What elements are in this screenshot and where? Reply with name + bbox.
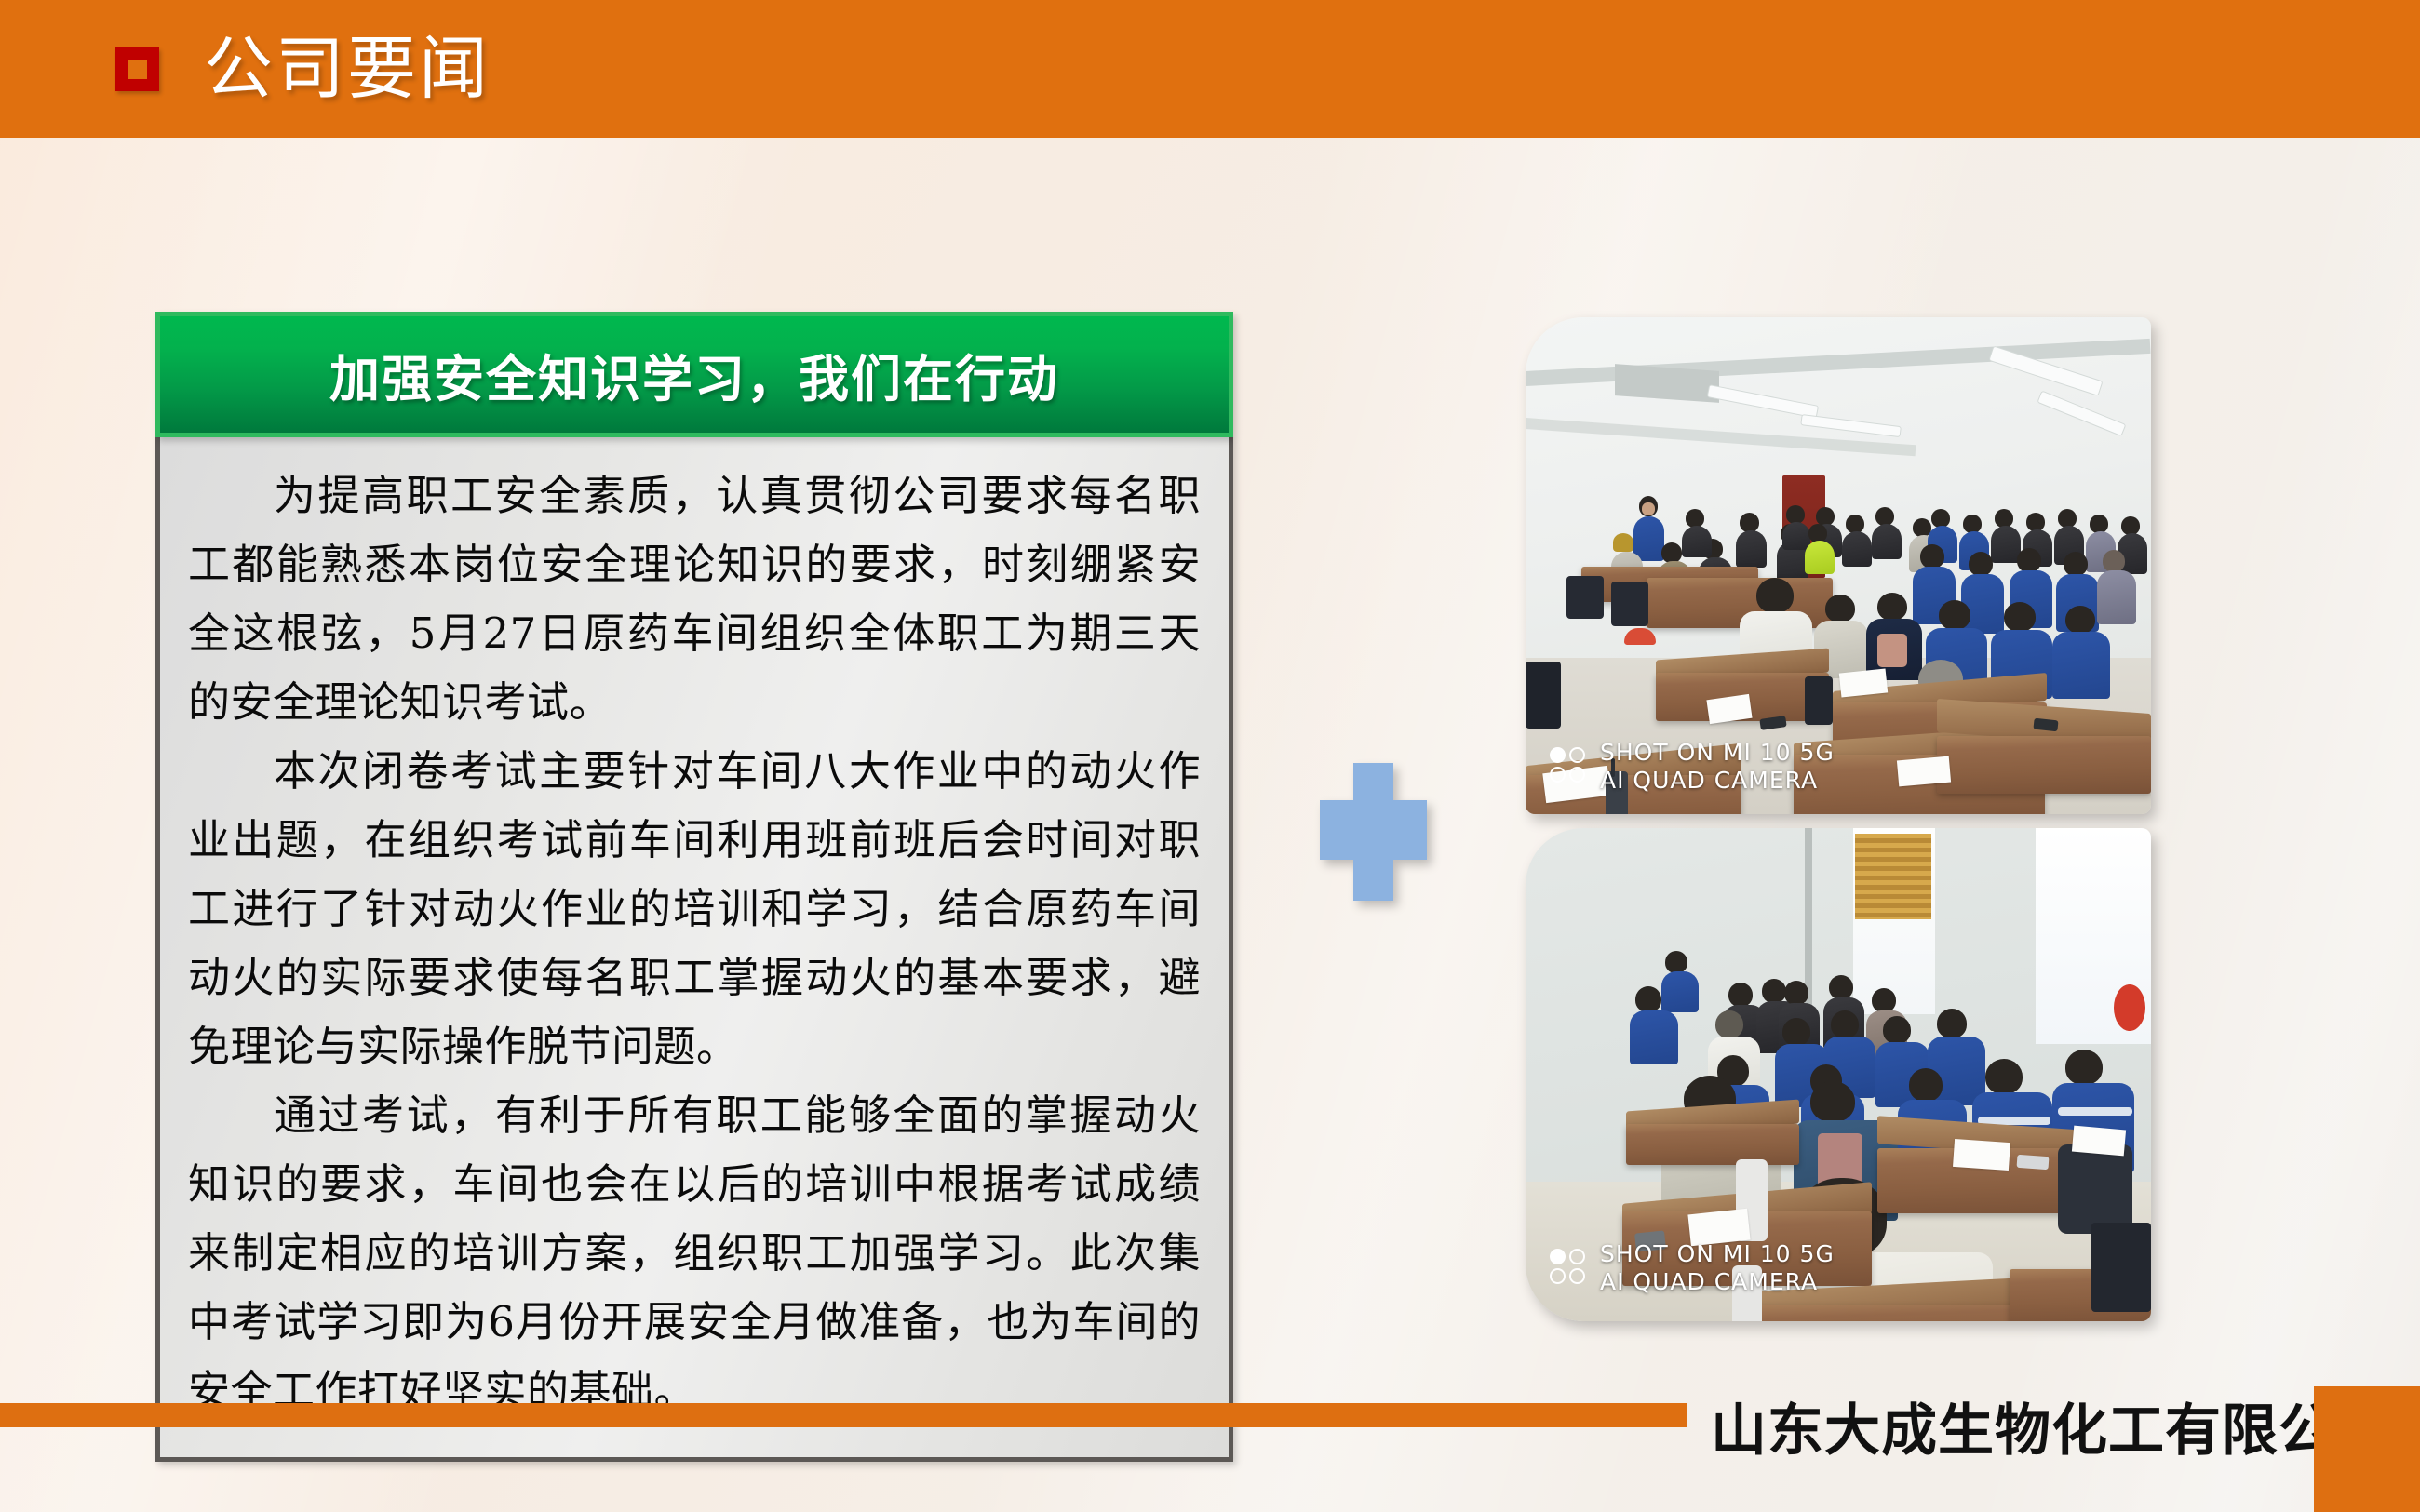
chair bbox=[1611, 582, 1648, 626]
article-banner-inner: 加强安全知识学习，我们在行动 bbox=[160, 316, 1229, 433]
watermark-line-2: AI QUAD CAMERA bbox=[1600, 1268, 1835, 1296]
photo-classroom-exam-wide: SHOT ON MI 10 5G AI QUAD CAMERA bbox=[1526, 317, 2151, 814]
window-blind bbox=[1855, 834, 1931, 919]
safety-helmet bbox=[1624, 628, 1656, 645]
desk bbox=[1626, 1124, 1799, 1165]
article-body: 为提高职工安全素质，认真贯彻公司要求每名职工都能熟悉本岗位安全理论知识的要求，时… bbox=[155, 437, 1233, 1462]
watermark-line-1: SHOT ON MI 10 5G bbox=[1600, 739, 1835, 767]
chair bbox=[1805, 676, 1833, 725]
footer-rule bbox=[0, 1403, 1687, 1427]
quad-camera-icon bbox=[1550, 747, 1589, 786]
photo-classroom-exam-close: SHOT ON MI 10 5G AI QUAD CAMERA bbox=[1526, 828, 2151, 1321]
page-title: 公司要闻 bbox=[204, 34, 491, 103]
article-paragraph: 通过考试，有利于所有职工能够全面的掌握动火知识的要求，车间也会在以后的培训中根据… bbox=[188, 1081, 1201, 1425]
article-card: 加强安全知识学习，我们在行动 为提高职工安全素质，认真贯彻公司要求每名职工都能熟… bbox=[155, 312, 1233, 1462]
chair bbox=[2058, 1144, 2132, 1234]
photo-watermark: SHOT ON MI 10 5G AI QUAD CAMERA bbox=[1550, 739, 1835, 794]
footer-company-name: 山东大成生物化工有限公司 bbox=[1711, 1385, 2392, 1466]
phone bbox=[2033, 718, 2058, 732]
watermark-line-1: SHOT ON MI 10 5G bbox=[1600, 1240, 1835, 1268]
desk bbox=[1747, 1305, 2054, 1321]
slide-header: 公司要闻 bbox=[0, 0, 2420, 138]
exam-paper bbox=[2072, 1126, 2126, 1157]
article-banner: 加强安全知识学习，我们在行动 bbox=[155, 312, 1233, 437]
exam-paper bbox=[1897, 756, 1951, 787]
slide-canvas: 公司要闻 加强安全知识学习，我们在行动 为提高职工安全素质，认真贯彻公司要求每名… bbox=[0, 0, 2420, 1512]
article-banner-title: 加强安全知识学习，我们在行动 bbox=[329, 338, 1059, 411]
exam-paper bbox=[1953, 1139, 2010, 1171]
quad-camera-icon bbox=[1550, 1249, 1589, 1288]
fire-equipment bbox=[2114, 984, 2145, 1031]
article-paragraph: 为提高职工安全素质，认真贯彻公司要求每名职工都能熟悉本岗位安全理论知识的要求，时… bbox=[188, 462, 1201, 737]
phone bbox=[2017, 1155, 2050, 1170]
footer-accent-block bbox=[2314, 1386, 2420, 1512]
red-square-bullet-icon bbox=[115, 47, 159, 91]
chair bbox=[1566, 576, 1604, 619]
article-paragraph: 本次闭卷考试主要针对车间八大作业中的动火作业出题，在组织考试前车间利用班前班后会… bbox=[188, 737, 1201, 1081]
chair bbox=[2091, 1223, 2151, 1312]
watermark-line-2: AI QUAD CAMERA bbox=[1600, 767, 1835, 795]
blue-plus-icon bbox=[1320, 763, 1427, 901]
desk bbox=[1937, 736, 2151, 794]
exam-paper bbox=[1839, 668, 1888, 697]
chair bbox=[1526, 662, 1561, 729]
photo-watermark: SHOT ON MI 10 5G AI QUAD CAMERA bbox=[1550, 1240, 1835, 1295]
